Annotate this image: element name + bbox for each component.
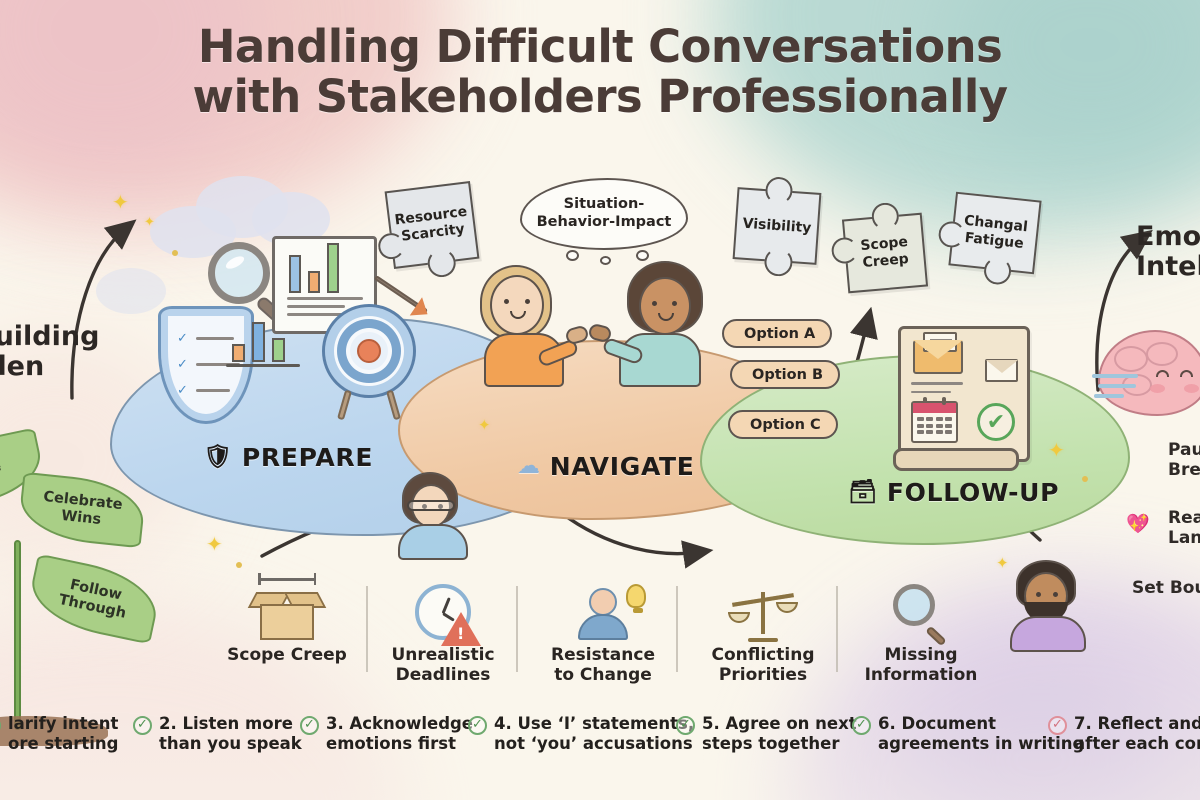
prepare-illustration: ✓ ✓ ✓	[150, 228, 410, 443]
bar-chart-bars	[289, 241, 339, 293]
person-speaking-left	[476, 261, 586, 387]
followup-illustration: ✔	[898, 326, 1030, 462]
measure-line	[258, 578, 316, 581]
option-pill-a-label: Option A	[744, 326, 815, 342]
clock-alert-icon: !	[368, 578, 518, 640]
checklist-item-3: ✓ 3. Acknowledge emotions first	[300, 714, 473, 754]
title-line-1: Handling Difficult Conversations	[198, 20, 1002, 73]
challenge-conflicting-priorities-caption: Conflicting Priorities	[688, 646, 838, 685]
checklist-item-4-text: 4. Use ‘I’ statements, not ‘you’ accusat…	[494, 714, 694, 754]
challenge-scope-creep: Scope Creep	[212, 578, 362, 666]
stage-label-prepare-text: PREPARE	[242, 443, 373, 472]
checklist-item-2: ✓ 2. Listen more than you speak	[133, 714, 302, 754]
gold-dot	[1082, 476, 1088, 482]
bullseye-center	[357, 339, 381, 363]
shield-check-2: ✓	[177, 357, 188, 372]
stage-label-prepare: 🛡 PREPARE	[203, 443, 373, 472]
person-speaking-right	[593, 261, 705, 387]
thought-bubble: Situation-Behavior-Impact	[520, 178, 688, 250]
envelope-icon	[913, 340, 963, 374]
check-icon: ✓	[133, 716, 152, 735]
checklist-item-3-text: 3. Acknowledge emotions first	[326, 714, 473, 754]
checklist-item-4: ✓ 4. Use ‘I’ statements, not ‘you’ accus…	[468, 714, 694, 754]
scroll-document: ✔	[898, 326, 1030, 462]
challenge-conflicting-priorities: Conflicting Priorities	[688, 578, 838, 685]
stage-label-navigate: ☁ NAVIGATE	[517, 452, 695, 481]
eq-item-read-label: Read	[1168, 508, 1200, 528]
eq-heading-line-2: Intelli	[1136, 251, 1200, 282]
brain-fold	[1114, 346, 1148, 372]
brain-blush	[1184, 384, 1199, 393]
thought-bubble-text: Situation-Behavior-Impact	[530, 196, 678, 231]
trust-garden-heading-line-1: Building	[0, 321, 99, 352]
option-pill-c[interactable]: Option C	[728, 410, 838, 439]
eq-item-language-label: Lang	[1168, 528, 1200, 548]
trust-garden-heading-line-2: rden	[0, 351, 44, 382]
check-icon: ✓	[300, 716, 319, 735]
eye	[652, 301, 657, 306]
target-leg-right	[386, 390, 401, 421]
shield-icon: 🛡	[203, 446, 233, 469]
head	[490, 275, 544, 335]
sparkle-icon: ✦	[478, 418, 491, 433]
torso	[398, 524, 468, 560]
calendar-icon	[911, 401, 958, 443]
brain-fold	[1146, 342, 1178, 366]
puzzle-piece-scope-creep-label: Scope Creep	[852, 233, 919, 272]
option-pill-b[interactable]: Option B	[730, 360, 840, 389]
head	[639, 277, 691, 335]
plant-leaf-1-label: ate	[0, 458, 3, 480]
calendar-grid	[917, 417, 952, 434]
title-line-2: with Stakeholders Professionally	[0, 72, 1200, 122]
letter-icon	[923, 332, 957, 352]
checklist-item-5: ✓ 5. Agree on next steps together	[676, 714, 857, 754]
eye	[504, 299, 509, 304]
eq-item-pause: Pau Bre	[1168, 440, 1200, 481]
magnifier-icon	[846, 578, 996, 640]
sparkle-icon: ✦	[206, 534, 223, 554]
wind-swirl-icon	[1092, 372, 1150, 394]
conversation-illustration	[470, 252, 705, 387]
scales-icon	[688, 578, 838, 640]
check-icon: ✓	[676, 716, 695, 735]
plant-leaf-celebrate-wins: Celebrate Wins	[17, 472, 147, 549]
shield-check-1: ✓	[177, 331, 188, 346]
sparkle-icon: ✦	[1048, 440, 1065, 460]
chart-bar	[327, 243, 339, 293]
box-icon	[212, 578, 362, 640]
eye	[672, 301, 677, 306]
brain-eye	[1156, 370, 1169, 377]
challenge-unrealistic-deadlines-caption: Unrealistic Deadlines	[368, 646, 518, 685]
eye	[525, 299, 530, 304]
sparkle-icon: ✦	[144, 216, 155, 229]
target-bullseye-icon	[322, 304, 416, 398]
shield-check-3: ✓	[177, 383, 188, 398]
option-pill-a[interactable]: Option A	[722, 319, 832, 348]
eq-item-pause-label: Pau	[1168, 440, 1200, 460]
page-title: Handling Difficult Conversations with St…	[0, 22, 1200, 121]
puzzle-piece-changal-fatigue: Changal Fatigue	[948, 192, 1041, 275]
mini-bar	[252, 322, 265, 362]
checklist-item-2-text: 2. Listen more than you speak	[159, 714, 302, 754]
challenge-unrealistic-deadlines: ! Unrealistic Deadlines	[368, 578, 518, 685]
checklist-item-7: ✓ 7. Reflect and re after each conver	[1048, 714, 1200, 754]
person-with-glasses	[398, 472, 470, 560]
checklist-item-1-text: larify intent ore starting	[8, 714, 119, 754]
puzzle-piece-visibility: Visibility	[733, 187, 822, 265]
check-icon: ✓	[468, 716, 487, 735]
brain-blush	[1150, 384, 1165, 393]
glasses-icon	[407, 500, 455, 511]
shield-line-3	[196, 389, 230, 392]
chart-bar	[289, 255, 301, 293]
eq-item-read-body-language: Read Lang	[1168, 508, 1200, 549]
sparkle-icon: ✦	[996, 556, 1009, 571]
option-pill-c-label: Option C	[750, 417, 821, 433]
cloud-icon: ☁	[517, 455, 541, 478]
challenge-resistance-to-change: Resistance to Change	[528, 578, 678, 685]
person-bulb-icon	[528, 578, 678, 640]
lightbulb-icon	[626, 584, 646, 608]
puzzle-piece-visibility-label: Visibility	[742, 215, 812, 237]
sparkle-icon: ✦	[112, 192, 129, 212]
envelope-small-icon	[985, 359, 1018, 382]
checklist-item-5-text: 5. Agree on next steps together	[702, 714, 857, 754]
puzzle-piece-resource-scarcity-label: Resource Scarcity	[394, 204, 470, 246]
stage-label-navigate-text: NAVIGATE	[550, 452, 695, 481]
plant-leaf-2-label: Celebrate Wins	[27, 488, 138, 532]
option-pill-b-label: Option B	[752, 367, 823, 383]
challenges-strip: Scope Creep ! Unrealistic Deadlines	[0, 578, 1200, 698]
magnifier-glint	[224, 254, 246, 271]
stage-label-followup-text: FOLLOW-UP	[887, 478, 1059, 507]
checkmark-circle-icon: ✔	[977, 403, 1015, 441]
challenge-resistance-to-change-caption: Resistance to Change	[528, 646, 678, 685]
checklist-item-1: ✓ larify intent ore starting	[0, 714, 119, 754]
heart-pulse-icon: 💖	[1126, 512, 1150, 535]
mini-bar	[272, 338, 285, 362]
challenge-missing-information-caption: Missing Information	[846, 646, 996, 685]
mini-bar	[232, 344, 245, 362]
chart-bar	[308, 271, 320, 293]
inbox-icon: 🗃	[848, 481, 878, 504]
check-icon: ✓	[0, 716, 1, 735]
alert-triangle-icon: !	[441, 612, 481, 646]
puzzle-piece-scope-creep: Scope Creep	[842, 213, 928, 294]
smile	[510, 311, 526, 319]
best-practices-checklist: ✓ larify intent ore starting ✓ 2. Listen…	[0, 714, 1200, 776]
mini-bar-chart	[232, 316, 285, 362]
stage-label-followup: 🗃 FOLLOW-UP	[848, 478, 1059, 507]
puzzle-piece-resource-scarcity: Resource Scarcity	[385, 181, 480, 269]
puzzle-piece-changal-fatigue-label: Changal Fatigue	[958, 213, 1031, 254]
check-icon-pink: ✓	[1048, 716, 1067, 735]
gold-dot	[172, 250, 178, 256]
shield-line-1	[196, 337, 234, 340]
brain-eye	[1180, 370, 1193, 377]
target-leg-left	[337, 390, 352, 421]
trust-garden-heading: Building rden	[0, 322, 99, 382]
eq-heading-line-1: Emo	[1136, 221, 1200, 252]
smile	[658, 313, 674, 321]
eq-item-breathe-label: Bre	[1168, 460, 1200, 480]
emotional-intelligence-heading: Emo Intelli	[1136, 222, 1200, 282]
checklist-item-7-text: 7. Reflect and re after each conver	[1074, 714, 1200, 754]
check-icon: ✓	[852, 716, 871, 735]
person-body	[398, 472, 470, 560]
scroll-text-lines	[911, 382, 963, 399]
infographic-canvas: Handling Difficult Conversations with St…	[0, 0, 1200, 800]
gold-dot	[236, 562, 242, 568]
challenge-missing-information: Missing Information	[846, 578, 996, 685]
challenge-scope-creep-caption: Scope Creep	[212, 646, 362, 666]
calendar-header	[913, 403, 956, 413]
magnifier-icon	[208, 242, 270, 304]
